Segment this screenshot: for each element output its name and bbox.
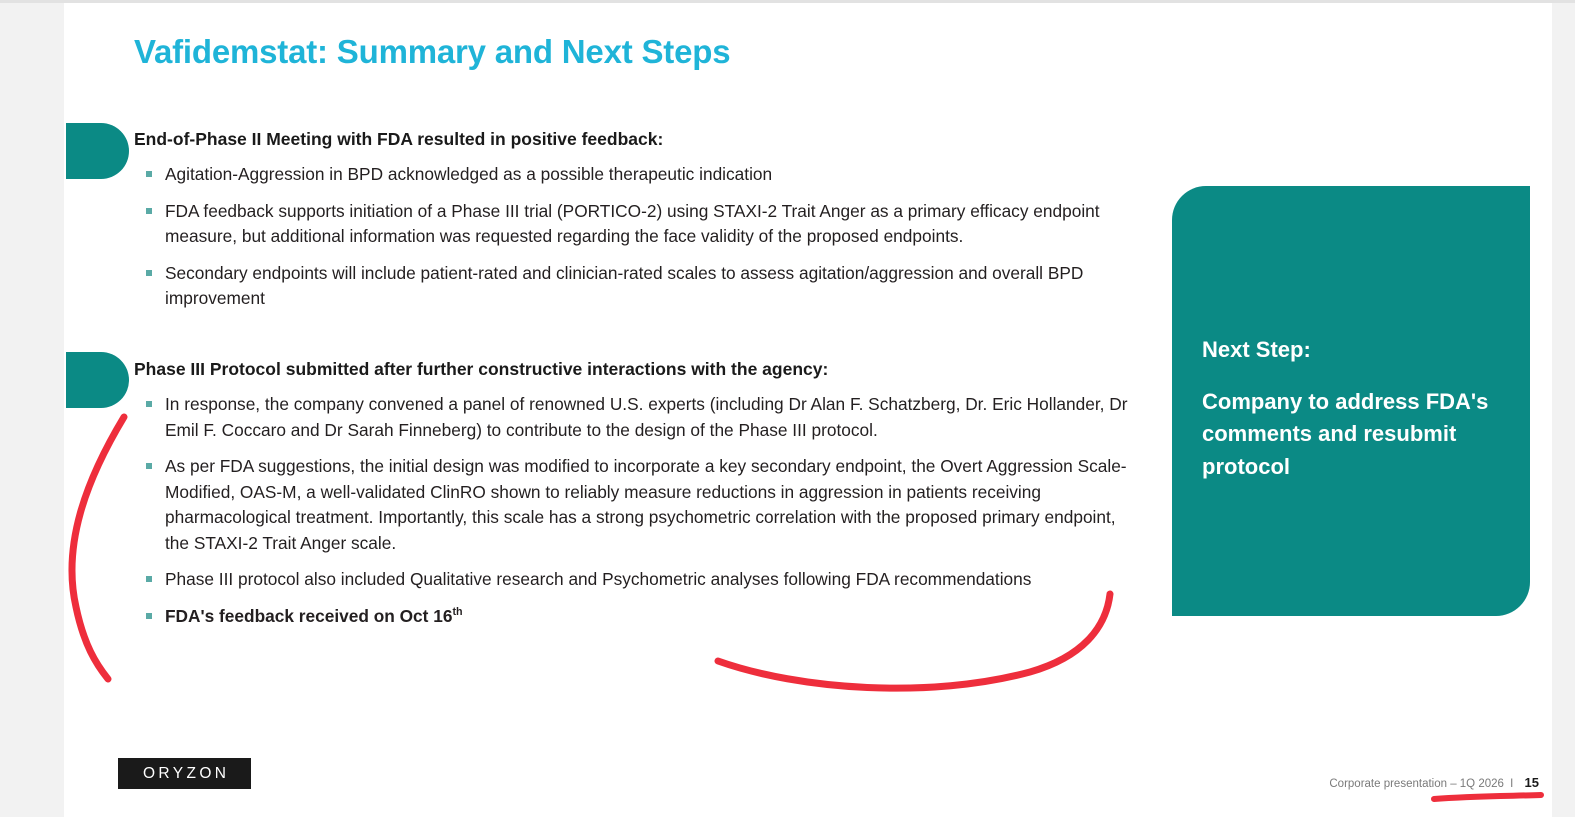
section-heading-2: Phase III Protocol submitted after furth… [134,359,1144,380]
bullet-dot-icon [146,270,152,276]
bullet-list-1: Agitation-Aggression in BPD acknowledged… [134,162,1144,312]
bullet-dot-icon [146,463,152,469]
list-item: Agitation-Aggression in BPD acknowledged… [134,162,1144,188]
bullet-list-2: In response, the company convened a pane… [134,392,1144,629]
bullet-dot-icon [146,401,152,407]
footer-meta: Corporate presentation – 1Q 2026 I 15 [1329,775,1539,790]
callout-label: Next Step: [1202,336,1530,364]
list-item: Secondary endpoints will include patient… [134,261,1144,312]
list-item-text: In response, the company convened a pane… [165,394,1128,440]
section-block-2: Phase III Protocol submitted after furth… [134,359,1144,629]
bullet-dot-icon [146,171,152,177]
section-heading-1: End-of-Phase II Meeting with FDA resulte… [134,129,1144,150]
bullet-dot-icon [146,208,152,214]
list-item-text: As per FDA suggestions, the initial desi… [165,456,1127,553]
list-item: In response, the company convened a pane… [134,392,1144,443]
list-item: FDA feedback supports initiation of a Ph… [134,199,1144,250]
footer-separator: I [1510,778,1513,790]
oryzon-logo: ORYZON [118,758,251,789]
next-step-callout: Next Step: Company to address FDA's comm… [1172,186,1530,616]
list-item-text: FDA's feedback received on Oct 16 [165,606,452,626]
list-item-text: Agitation-Aggression in BPD acknowledged… [165,164,772,184]
page-title: Vafidemstat: Summary and Next Steps [134,33,730,71]
list-item: As per FDA suggestions, the initial desi… [134,454,1144,556]
list-item-highlight: FDA's feedback received on Oct 16th [134,604,1144,630]
section-marker-icon-2 [66,352,129,408]
section-marker-icon-1 [66,123,129,179]
section-block-1: End-of-Phase II Meeting with FDA resulte… [134,129,1144,312]
ordinal-suffix: th [452,606,462,618]
list-item-text: Phase III protocol also included Qualita… [165,569,1031,589]
callout-body: Company to address FDA's comments and re… [1202,386,1502,484]
list-item-text: Secondary endpoints will include patient… [165,263,1083,309]
list-item: Phase III protocol also included Qualita… [134,567,1144,593]
slide-root: Vafidemstat: Summary and Next Steps End-… [0,0,1575,817]
bullet-dot-icon [146,613,152,619]
footer-presentation-label: Corporate presentation – 1Q 2026 [1329,778,1504,790]
bullet-dot-icon [146,576,152,582]
logo-text: ORYZON [140,765,230,783]
page-number: 15 [1525,775,1539,790]
list-item-text: FDA feedback supports initiation of a Ph… [165,201,1100,247]
